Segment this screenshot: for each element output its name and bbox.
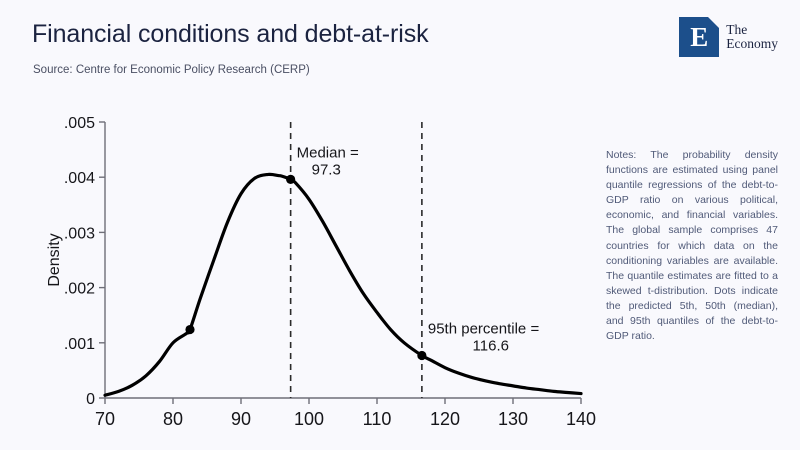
y-tick-label: .002: [64, 281, 95, 298]
chart-svg: 0.001.002.003.004.0057080901001101201301…: [20, 100, 600, 440]
density-curve-layer: [105, 174, 581, 395]
logo-wordmark-line2: Economy: [726, 37, 778, 52]
notes-body: Notes: The probability density functions…: [606, 148, 778, 344]
x-tick-label: 80: [163, 409, 183, 429]
vertical-reference-lines: [291, 122, 422, 398]
x-tick-label: 90: [231, 409, 251, 429]
quantile-dot-median: [286, 175, 295, 184]
y-axis-title-layer: Density: [46, 233, 63, 286]
slide-canvas: Financial conditions and debt-at-risk So…: [0, 0, 800, 450]
quantile-markers: [185, 175, 426, 360]
quantile-dot-95th-percentile: [417, 351, 426, 360]
brand-logo: E The Economy: [679, 17, 778, 57]
marker-label-95th-percentile: 95th percentile =: [428, 320, 540, 337]
logo-mark-icon: E: [679, 17, 719, 57]
x-tick-label: 100: [294, 409, 324, 429]
source-line: Source: Centre for Economic Policy Resea…: [33, 64, 310, 76]
y-tick-label: .001: [64, 336, 95, 353]
x-tick-label: 70: [95, 409, 115, 429]
marker-label-median: Median =: [297, 144, 359, 161]
logo-folded-corner-icon: [708, 17, 719, 28]
quantile-dot-5th-percentile: [185, 325, 194, 334]
y-tick-label: .005: [64, 115, 95, 132]
logo-wordmark: The Economy: [726, 23, 778, 52]
y-tick-label: .004: [64, 170, 95, 187]
y-tick-label: .003: [64, 225, 95, 242]
marker-labels: Median =97.395th percentile =116.6: [297, 144, 540, 354]
page-title: Financial conditions and debt-at-risk: [32, 20, 429, 49]
marker-value-95th-percentile: 116.6: [473, 337, 509, 354]
y-axis-title: Density: [46, 233, 63, 286]
x-tick-label: 120: [430, 409, 460, 429]
density-chart: 0.001.002.003.004.0057080901001101201301…: [20, 100, 600, 440]
y-tick-label: 0: [86, 391, 95, 408]
notes-panel: Notes: The probability density functions…: [606, 148, 778, 344]
marker-value-median: 97.3: [312, 161, 341, 178]
x-tick-label: 130: [498, 409, 528, 429]
logo-wordmark-line1: The: [726, 23, 778, 38]
x-tick-label: 140: [566, 409, 596, 429]
x-tick-label: 110: [363, 409, 392, 429]
density-curve: [105, 174, 581, 395]
header: Financial conditions and debt-at-risk So…: [0, 0, 800, 92]
